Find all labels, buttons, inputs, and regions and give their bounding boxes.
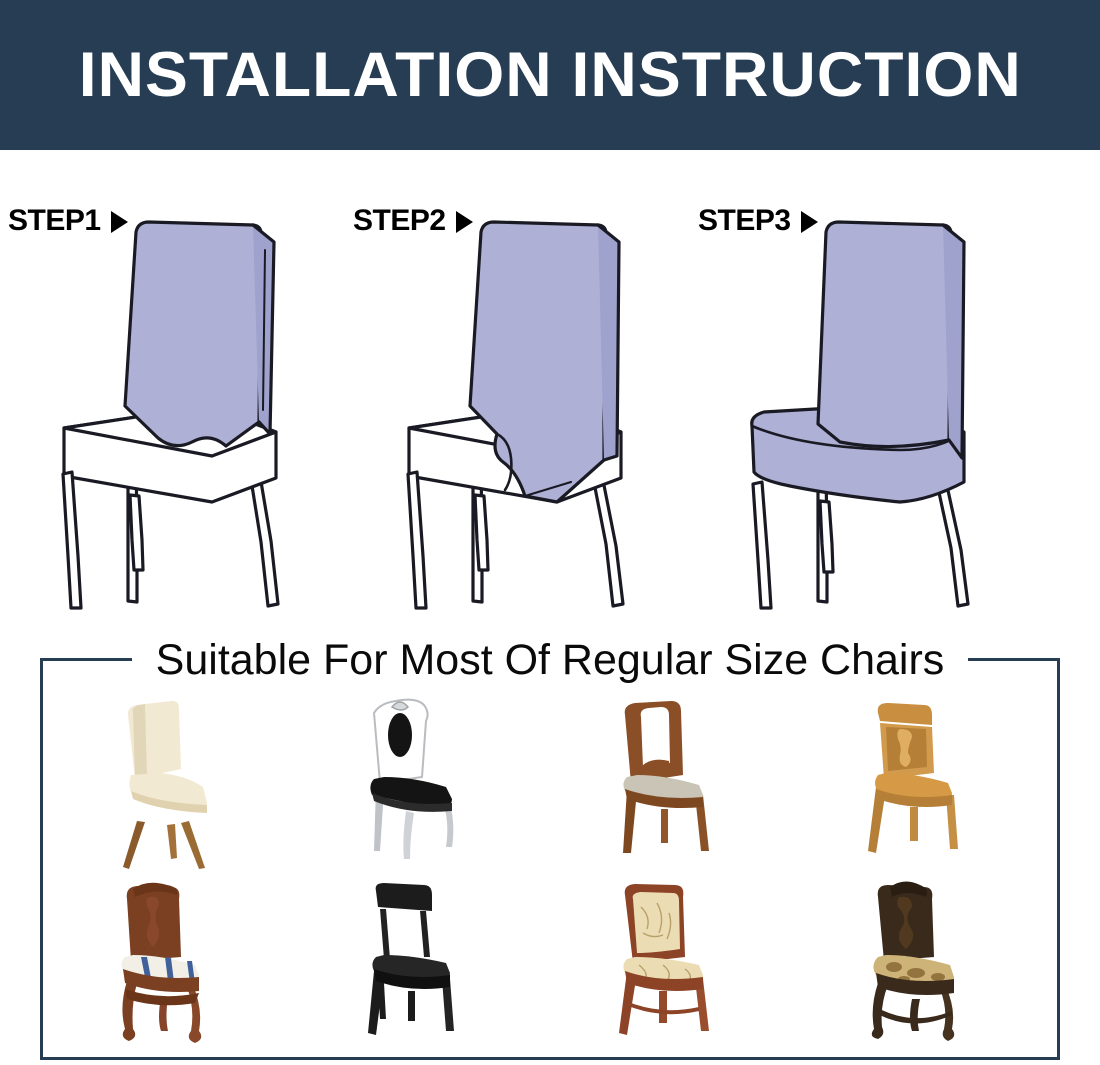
chair-thumb-mahogany-floral-upholstered-chair bbox=[550, 872, 801, 1054]
step-3-figure bbox=[730, 210, 1030, 610]
step-1: STEP1 bbox=[0, 150, 345, 620]
chair-thumb-antique-carved-tapestry-chair bbox=[801, 872, 1052, 1054]
suitable-chairs-title: Suitable For Most Of Regular Size Chairs bbox=[0, 634, 1100, 686]
chair-thumb-walnut-keyhole-back-chair bbox=[550, 690, 801, 872]
step-1-figure bbox=[40, 210, 340, 610]
header-banner: INSTALLATION INSTRUCTION bbox=[0, 0, 1100, 150]
chair-thumb-cream-upholstered-chair bbox=[48, 690, 299, 872]
chair-thumb-chippendale-mahogany-chair bbox=[48, 872, 299, 1054]
step-2-figure bbox=[385, 210, 685, 610]
suitable-chairs-title-text: Suitable For Most Of Regular Size Chairs bbox=[132, 636, 969, 684]
chair-thumb-silver-baroque-chair bbox=[299, 690, 550, 872]
chair-thumb-golden-oak-urn-splat-chair bbox=[801, 690, 1052, 872]
step-3: STEP3 bbox=[690, 150, 1035, 620]
step-2: STEP2 bbox=[345, 150, 690, 620]
page-title: INSTALLATION INSTRUCTION bbox=[78, 44, 1021, 107]
installation-steps: STEP1 bbox=[0, 150, 1100, 620]
chair-thumbnail-grid bbox=[48, 690, 1052, 1054]
chair-thumb-black-wood-slat-chair bbox=[299, 872, 550, 1054]
